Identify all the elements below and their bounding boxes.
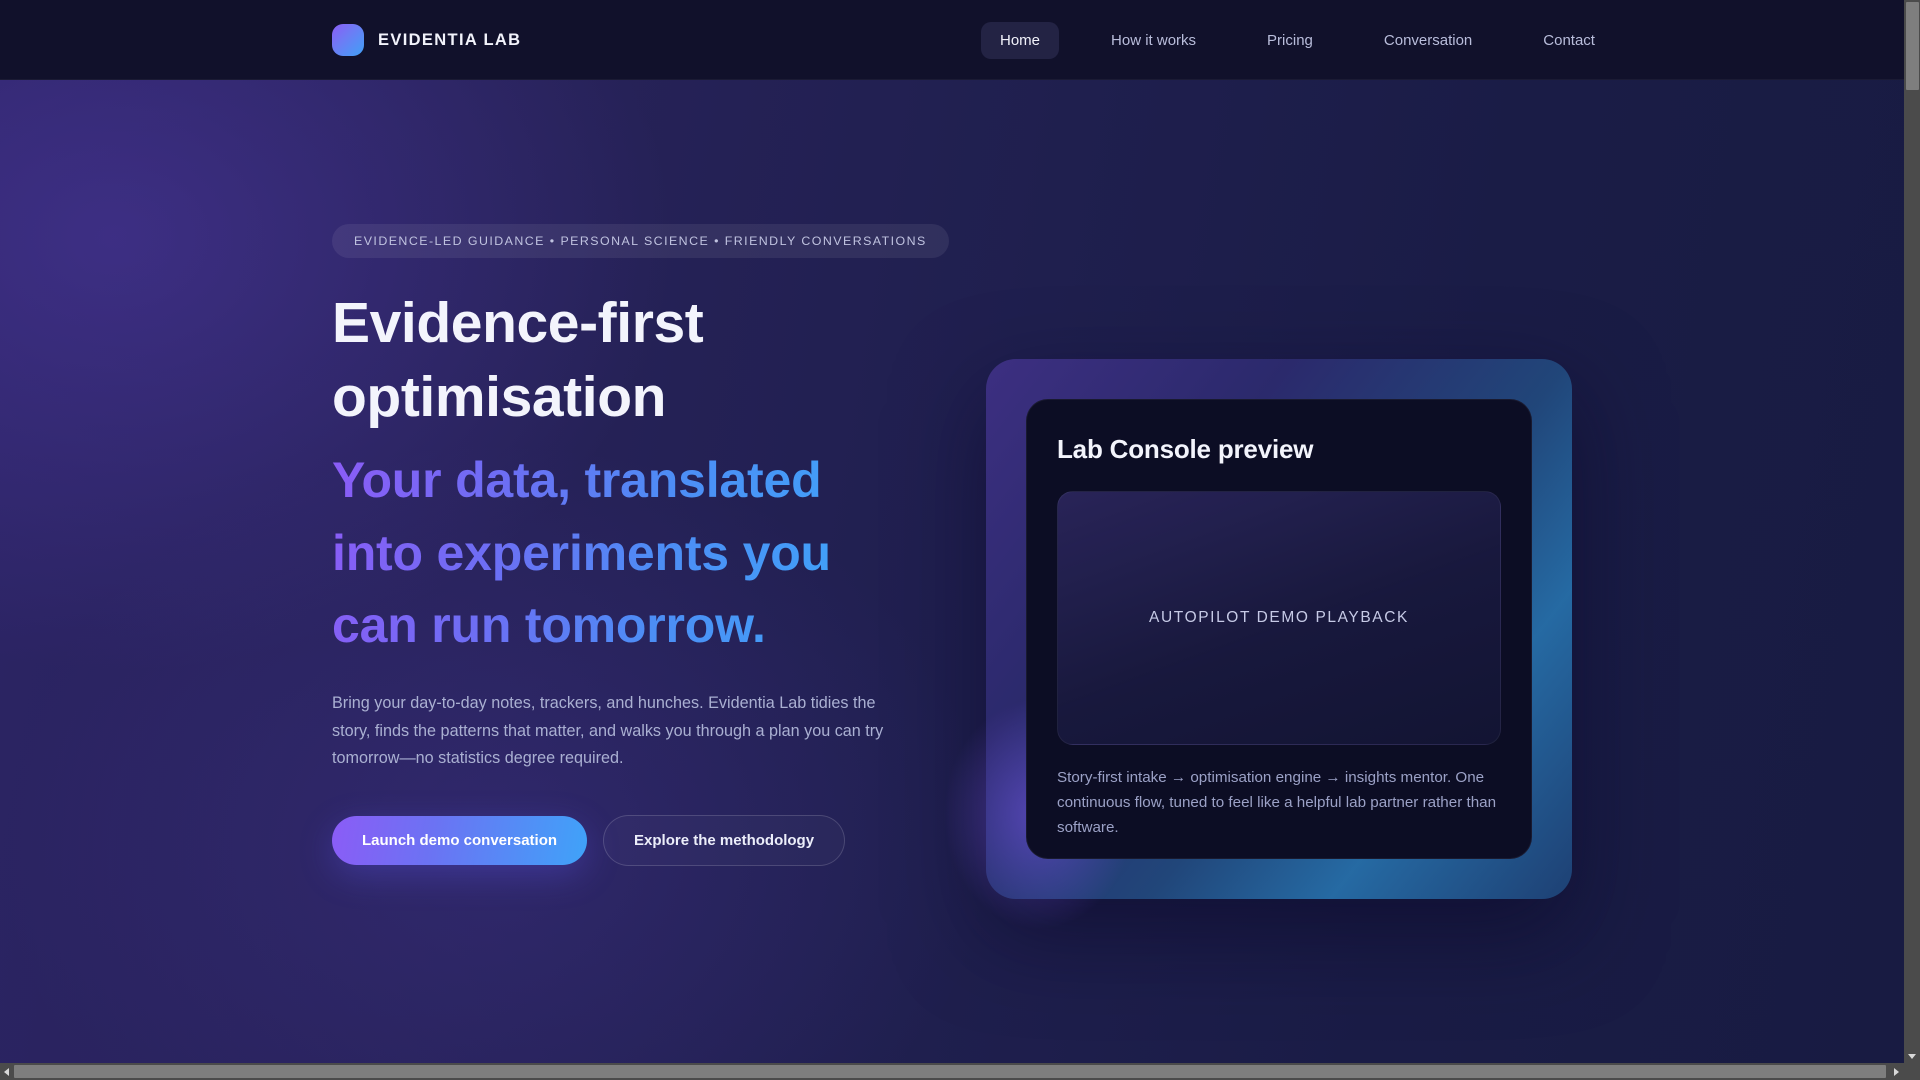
scroll-left-button[interactable] — [0, 1063, 13, 1080]
nav-item-home[interactable]: Home — [981, 22, 1059, 59]
launch-demo-conversation-button[interactable]: Launch demo conversation — [332, 816, 587, 865]
scrollbar-corner — [1904, 1063, 1920, 1080]
primary-nav: Home How it works Pricing Conversation C… — [981, 22, 1614, 59]
arrow-down-icon — [1908, 1054, 1916, 1059]
top-navigation-bar: EVIDENTIA LAB Home How it works Pricing … — [0, 0, 1904, 80]
page-viewport: EVIDENTIA LAB Home How it works Pricing … — [0, 0, 1904, 1063]
nav-item-how-it-works[interactable]: How it works — [1092, 22, 1215, 59]
console-card-title: Lab Console preview — [1057, 434, 1501, 465]
arrow-left-icon — [4, 1068, 9, 1076]
console-playback-label: AUTOPILOT DEMO PLAYBACK — [1149, 609, 1409, 627]
explore-methodology-button[interactable]: Explore the methodology — [603, 815, 845, 866]
console-playback-surface[interactable]: AUTOPILOT DEMO PLAYBACK — [1057, 491, 1501, 745]
hero-body-copy: Bring your day-to-day notes, trackers, a… — [332, 690, 917, 774]
console-preview-glow-frame: Lab Console preview AUTOPILOT DEMO PLAYB… — [986, 359, 1572, 899]
vertical-scrollbar-thumb[interactable] — [1906, 2, 1919, 90]
hero-headline-accent: Your data, translated into experiments y… — [332, 444, 852, 662]
hero-section: EVIDENCE-LED GUIDANCE • PERSONAL SCIENCE… — [0, 80, 1904, 1063]
scroll-right-button[interactable] — [1888, 1063, 1904, 1080]
lab-console-preview-card: Lab Console preview AUTOPILOT DEMO PLAYB… — [1026, 399, 1532, 859]
brand-logo[interactable]: EVIDENTIA LAB — [332, 24, 521, 56]
gradient-square-logo-icon — [332, 24, 364, 56]
hero-cta-group: Launch demo conversation Explore the met… — [332, 815, 932, 866]
nav-item-conversation[interactable]: Conversation — [1365, 22, 1491, 59]
hero-headline: Evidence-first optimisation Your data, t… — [332, 286, 852, 662]
brand-name: EVIDENTIA LAB — [378, 31, 521, 50]
console-card-caption: Story-first intake → optimisation engine… — [1057, 765, 1501, 841]
hero-eyebrow-badge: EVIDENCE-LED GUIDANCE • PERSONAL SCIENCE… — [332, 224, 949, 258]
nav-item-contact[interactable]: Contact — [1524, 22, 1614, 59]
hero-headline-main: Evidence-first optimisation — [332, 291, 703, 429]
hero-text-column: EVIDENCE-LED GUIDANCE • PERSONAL SCIENCE… — [332, 224, 932, 866]
vertical-scrollbar-track[interactable] — [1904, 0, 1920, 1063]
nav-item-pricing[interactable]: Pricing — [1248, 22, 1332, 59]
arrow-right-icon — [1894, 1068, 1899, 1076]
horizontal-scrollbar-thumb[interactable] — [14, 1065, 1886, 1078]
scroll-down-button[interactable] — [1904, 1049, 1920, 1063]
